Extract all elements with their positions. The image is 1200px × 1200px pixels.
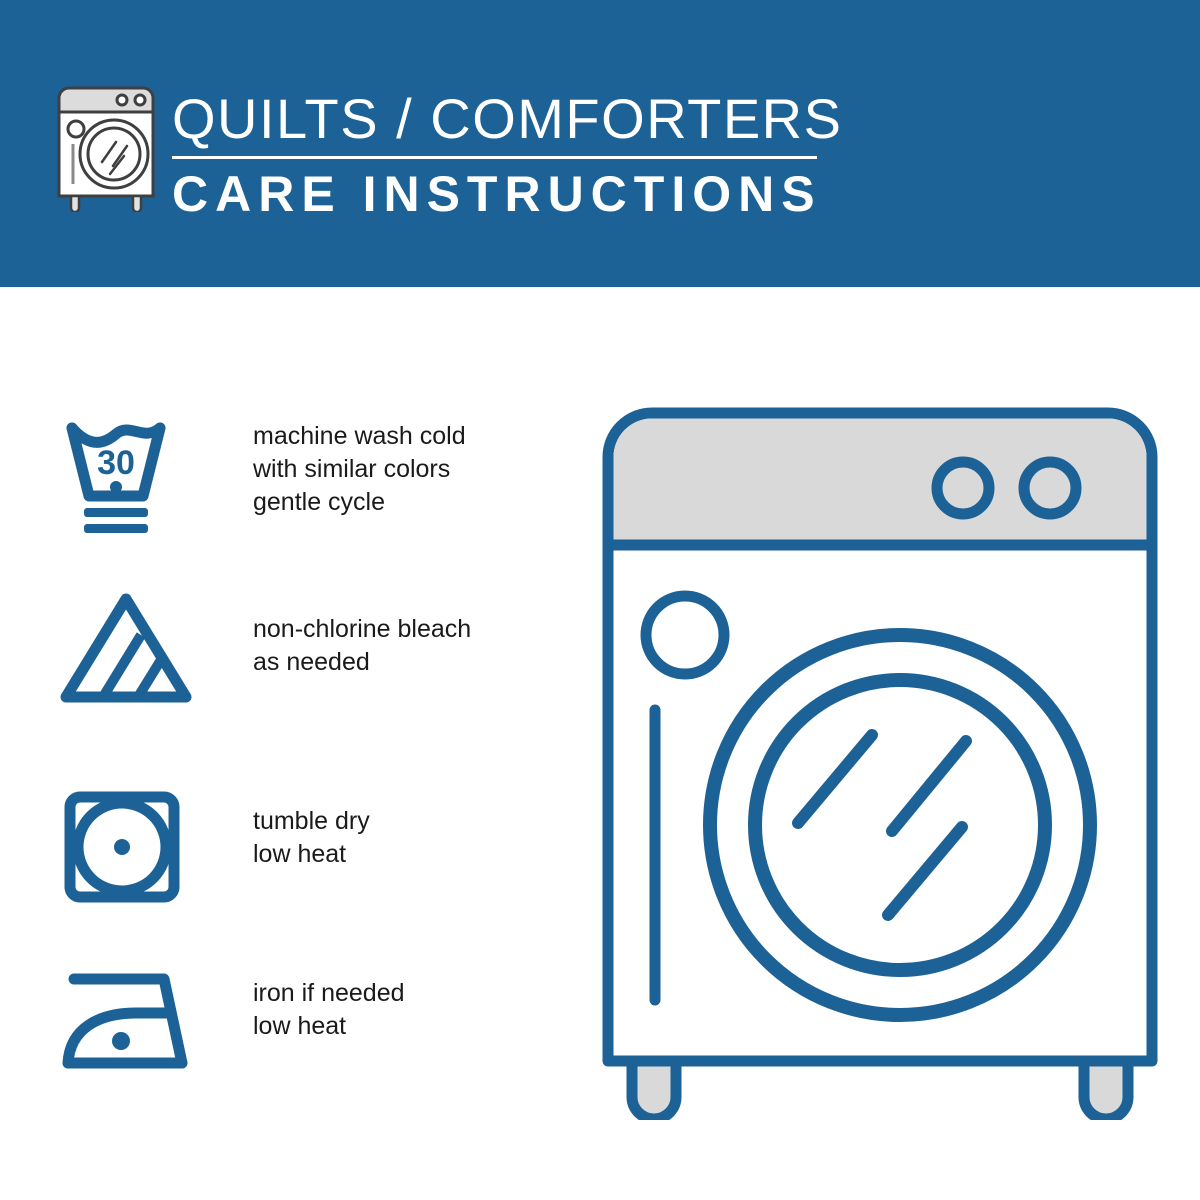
page-title: QUILTS / COMFORTERS bbox=[172, 86, 822, 152]
care-row-bleach: non-chlorine bleach as needed bbox=[0, 587, 560, 727]
control-knob bbox=[937, 462, 989, 514]
care-text-line: low heat bbox=[253, 838, 553, 871]
page-subtitle: CARE INSTRUCTIONS bbox=[172, 165, 822, 223]
care-text-line: low heat bbox=[253, 1010, 553, 1043]
detergent-dial bbox=[646, 596, 724, 674]
care-instructions-page: QUILTS / COMFORTERS CARE INSTRUCTIONS 30 bbox=[0, 0, 1200, 1200]
title-divider bbox=[172, 156, 817, 159]
front-load-washing-machine-illustration bbox=[600, 405, 1160, 1120]
washing-machine-icon bbox=[52, 82, 160, 212]
care-text-iron: iron if needed low heat bbox=[253, 977, 553, 1043]
care-text-tumble-dry: tumble dry low heat bbox=[253, 805, 553, 871]
tumble-dry-low-heat-icon bbox=[58, 787, 198, 912]
care-text-line: gentle cycle bbox=[253, 486, 553, 519]
care-text-wash: machine wash cold with similar colors ge… bbox=[253, 420, 553, 519]
care-text-line: as needed bbox=[253, 646, 553, 679]
care-text-bleach: non-chlorine bleach as needed bbox=[253, 613, 553, 679]
iron-low-heat-icon bbox=[58, 967, 198, 1092]
care-text-line: tumble dry bbox=[253, 805, 553, 838]
care-text-line: non-chlorine bleach bbox=[253, 613, 553, 646]
header-title-block: QUILTS / COMFORTERS CARE INSTRUCTIONS bbox=[172, 86, 822, 223]
header-banner: QUILTS / COMFORTERS CARE INSTRUCTIONS bbox=[0, 0, 1200, 287]
wash-tub-30-gentle-icon: 30 bbox=[58, 412, 198, 537]
care-instruction-list: 30 machine wash cold with similar colors… bbox=[0, 287, 560, 1200]
wash-temperature-label: 30 bbox=[97, 444, 135, 482]
care-text-line: machine wash cold bbox=[253, 420, 553, 453]
care-row-tumble-dry: tumble dry low heat bbox=[0, 777, 560, 917]
care-text-line: iron if needed bbox=[253, 977, 553, 1010]
control-knob bbox=[1024, 462, 1076, 514]
bleach-triangle-non-chlorine-icon bbox=[58, 593, 198, 718]
care-row-iron: iron if needed low heat bbox=[0, 947, 560, 1087]
care-text-line: with similar colors bbox=[253, 453, 553, 486]
care-row-wash: 30 machine wash cold with similar colors… bbox=[0, 412, 560, 552]
